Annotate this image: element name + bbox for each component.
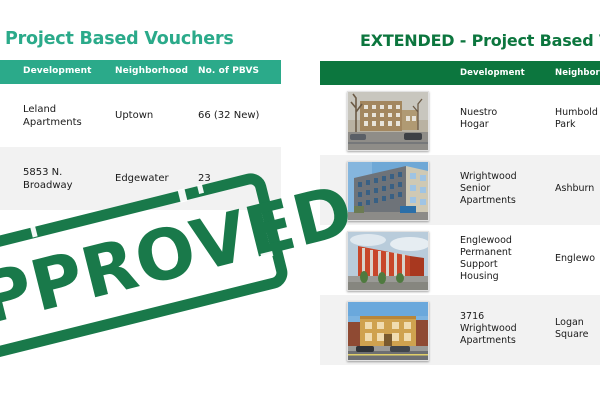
cell-neighborhood: Edgewater	[115, 172, 195, 185]
table-row[interactable]: Nuestro Hogar Humbold Park	[320, 85, 600, 155]
project-based-vouchers-table: Development Neighborhood No. of PBVS Lel…	[0, 60, 281, 210]
cell-neighborhood: Logan Square	[555, 317, 600, 341]
column-header-neighborhood: Neighborhood	[115, 66, 188, 76]
cell-neighborhood: Uptown	[115, 109, 195, 122]
column-header-neighborhood: Neighborho	[555, 68, 600, 78]
building-photo-englewood-permanent-support-housing	[347, 231, 429, 291]
building-photo-wrightwood-senior-apartments	[347, 161, 429, 221]
table-header-row: Development Neighborho	[320, 61, 600, 85]
cell-development: Nuestro Hogar	[460, 107, 550, 131]
column-header-no-of-pbvs: No. of PBVS	[198, 66, 259, 76]
building-photo-3716-wrightwood-apartments	[347, 301, 429, 361]
cell-neighborhood: Humbold Park	[555, 107, 600, 131]
cell-development: Leland Apartments	[23, 103, 108, 129]
cell-neighborhood: Englewo	[555, 253, 600, 265]
slide-canvas: - Project Based Vouchers Development Nei…	[0, 0, 600, 400]
table-header-row: Development Neighborhood No. of PBVS	[0, 60, 281, 84]
table-row[interactable]: Leland Apartments Uptown 66 (32 New)	[0, 84, 281, 147]
left-panel-title: - Project Based Vouchers	[0, 29, 282, 49]
table-row[interactable]: Englewood Permanent Support Housing Engl…	[320, 225, 600, 295]
cell-pbvs: 66 (32 New)	[198, 109, 288, 122]
cell-development: 3716 Wrightwood Apartments	[460, 311, 550, 347]
right-panel: EXTENDED - Project Based V Development N…	[320, 0, 600, 400]
extended-project-based-vouchers-table: Development Neighborho	[320, 61, 600, 365]
left-panel: - Project Based Vouchers Development Nei…	[0, 0, 281, 400]
cell-pbvs: 23	[198, 172, 288, 185]
column-header-development: Development	[23, 66, 92, 76]
cell-development: 5853 N. Broadway	[23, 166, 108, 192]
cell-development: Englewood Permanent Support Housing	[460, 235, 550, 283]
cell-development: Wrightwood Senior Apartments	[460, 171, 550, 207]
column-header-development: Development	[460, 68, 525, 78]
cell-neighborhood: Ashburn	[555, 183, 600, 195]
building-photo-nuestro-hogar	[347, 91, 429, 151]
table-row[interactable]: 5853 N. Broadway Edgewater 23	[0, 147, 281, 210]
table-row[interactable]: Wrightwood Senior Apartments Ashburn	[320, 155, 600, 225]
table-row[interactable]: 3716 Wrightwood Apartments Logan Square	[320, 295, 600, 365]
right-panel-title: EXTENDED - Project Based V	[360, 31, 600, 50]
